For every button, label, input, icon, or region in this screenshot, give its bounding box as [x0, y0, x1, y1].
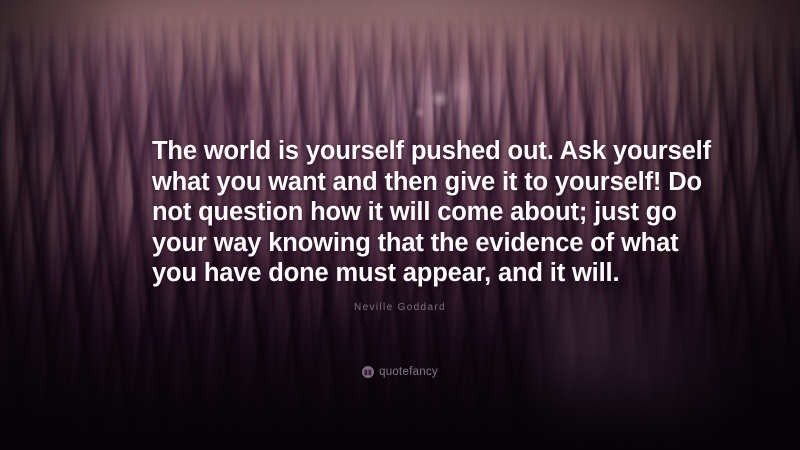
quote-line: what you want and then give it to yourse…	[152, 167, 658, 198]
quote-line: The world is yourself pushed out. Ask yo…	[152, 136, 658, 167]
quote-line: you have done must appear, and it will.	[152, 258, 658, 289]
quote-line: not question how it will come about; jus…	[152, 197, 658, 228]
quote-author: Neville Goddard	[0, 302, 800, 313]
quote-line: your way knowing that the evidence of wh…	[152, 228, 658, 259]
quote-marks-icon	[362, 366, 374, 378]
quote-wallpaper-image: The world is yourself pushed out. Ask yo…	[0, 0, 800, 450]
quote-text: The world is yourself pushed out. Ask yo…	[152, 136, 658, 289]
quotefancy-wordmark: quotefancy	[379, 366, 438, 378]
overlay-content: The world is yourself pushed out. Ask yo…	[0, 0, 800, 450]
quotefancy-watermark: quotefancy	[0, 366, 800, 378]
